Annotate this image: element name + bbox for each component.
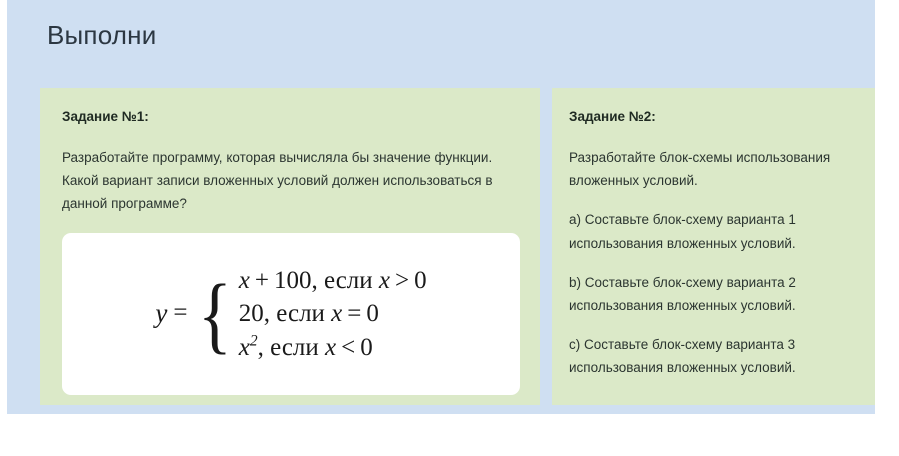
case-3-exponent: 2	[250, 332, 258, 349]
case-1-cond-number: 0	[414, 267, 427, 294]
case-3-cond-variable: x	[325, 334, 336, 361]
case-2-cond-variable: x	[331, 300, 342, 327]
case-1-cond-variable: x	[379, 267, 390, 294]
case-2-comma: ,	[264, 300, 270, 327]
task-1-description: Разработайте программу, которая вычислял…	[62, 146, 518, 216]
case-1-operator: +	[250, 267, 274, 294]
task-1-heading: Задание №1:	[62, 108, 518, 127]
screenshot-root: Выполни Задание №1: Разработайте програм…	[0, 0, 899, 456]
formula-card: y = { x+100, если x>0 20, если x=0 x2	[62, 233, 520, 395]
case-3-cond-operator: <	[336, 334, 360, 361]
case-2-cond-operator: =	[342, 300, 366, 327]
case-3-variable: x	[239, 334, 250, 361]
case-2-condition-word: если	[276, 300, 325, 327]
content-panel: Выполни Задание №1: Разработайте програм…	[7, 0, 875, 414]
case-1-comma: ,	[311, 267, 317, 294]
task-2-intro: Разработайте блок-схемы использования вл…	[569, 146, 857, 192]
formula-case-2: 20, если x=0	[239, 297, 427, 331]
task-card-2: Задание №2: Разработайте блок-схемы испо…	[552, 88, 875, 405]
task-2-item-b: b) Составьте блок-схему варианта 2 испол…	[569, 271, 857, 317]
formula-equals-sign: =	[173, 299, 194, 329]
task-2-item-c: c) Составьте блок-схему варианта 3 испол…	[569, 333, 857, 379]
case-3-cond-number: 0	[360, 334, 373, 361]
formula-case-3: x2, если x<0	[239, 331, 427, 365]
case-1-number: 100	[274, 267, 312, 294]
tasks-columns: Задание №1: Разработайте программу, кото…	[40, 88, 875, 405]
task-2-heading: Задание №2:	[569, 108, 857, 127]
case-3-condition-word: если	[270, 334, 319, 361]
formula-case-1: x+100, если x>0	[239, 264, 427, 298]
case-2-number: 20	[239, 300, 264, 327]
formula-brace: {	[198, 281, 234, 348]
page-title: Выполни	[47, 20, 156, 51]
task-card-2-body: Задание №2: Разработайте блок-схемы испо…	[552, 88, 875, 380]
case-1-condition-word: если	[324, 267, 373, 294]
formula-cases: x+100, если x>0 20, если x=0 x2, если x<…	[239, 264, 427, 365]
case-1-cond-operator: >	[390, 267, 414, 294]
formula-lhs: y	[155, 298, 173, 331]
case-1-variable: x	[239, 267, 250, 294]
task-2-item-a: a) Составьте блок-схему варианта 1 испол…	[569, 208, 857, 254]
piecewise-formula: y = { x+100, если x>0 20, если x=0 x2	[62, 233, 520, 395]
case-3-comma: ,	[258, 334, 264, 361]
task-card-1-body: Задание №1: Разработайте программу, кото…	[40, 88, 540, 216]
task-card-1: Задание №1: Разработайте программу, кото…	[40, 88, 540, 405]
case-2-cond-number: 0	[366, 300, 379, 327]
